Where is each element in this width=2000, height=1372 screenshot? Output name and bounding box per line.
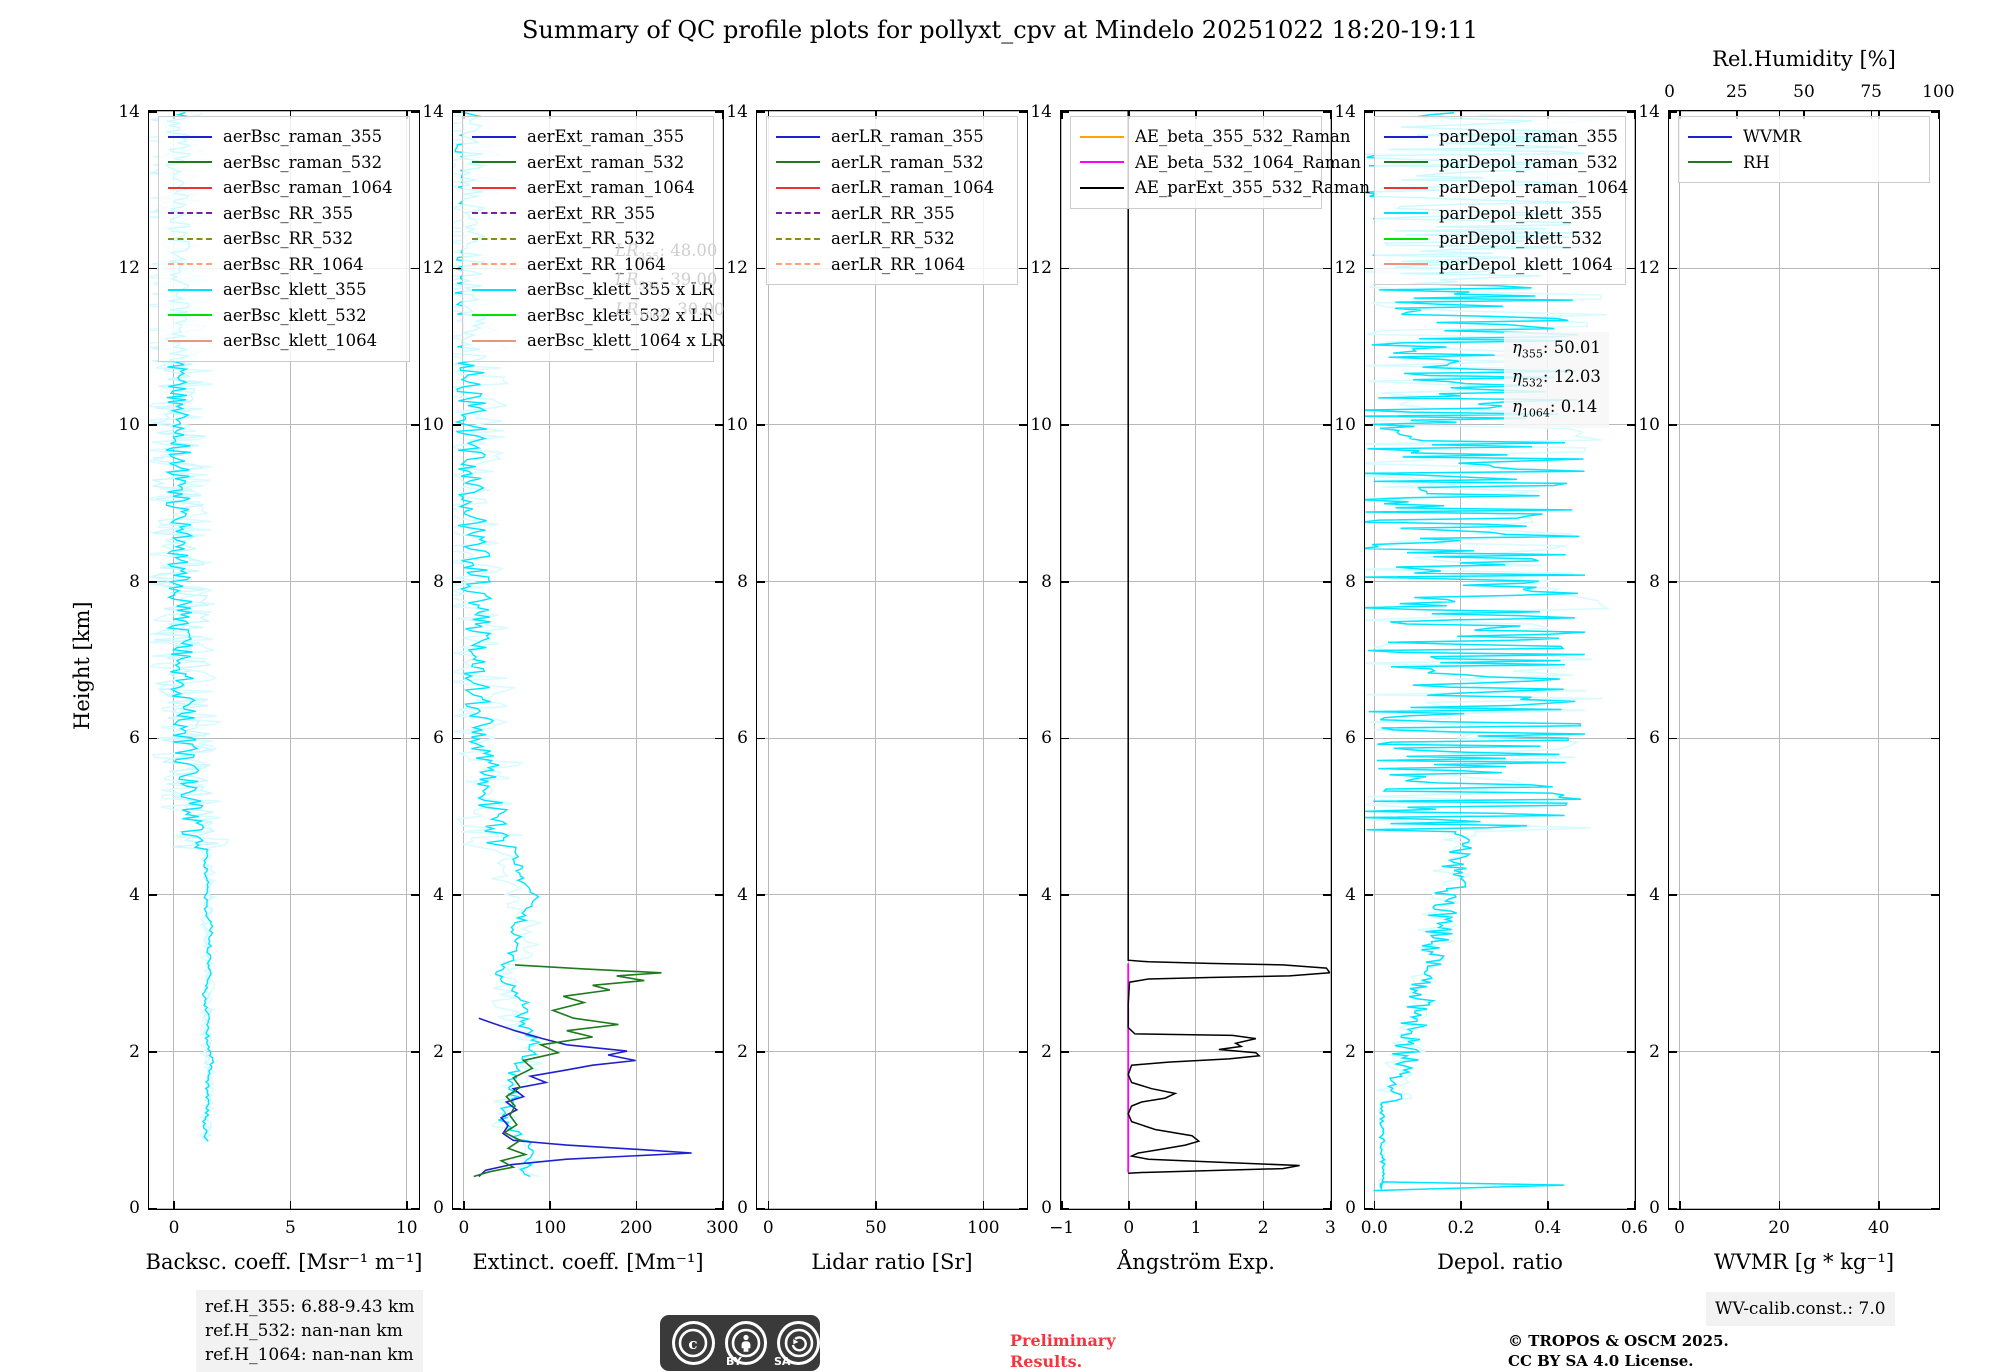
- legend-label: aerExt_raman_532: [527, 150, 684, 176]
- top-x-tick-label: 25: [1726, 82, 1748, 102]
- legend-label: parDepol_klett_355: [1439, 201, 1602, 227]
- legend-color-swatch: [1384, 136, 1428, 138]
- x-tick-label: 0.2: [1447, 1218, 1474, 1238]
- plot-area-wvmr: [1669, 111, 1938, 1208]
- eta-annotation-row: η532: 12.03: [1512, 365, 1601, 394]
- y-tick-label: 4: [716, 885, 748, 905]
- legend-entry[interactable]: aerBsc_raman_355: [168, 124, 400, 150]
- x-tick-label: 100: [967, 1218, 999, 1238]
- y-tick-mark: [1931, 1051, 1939, 1053]
- x-tick-label: 100: [534, 1218, 566, 1238]
- legend-label: aerBsc_klett_355: [223, 277, 367, 303]
- x-tick-mark: [173, 1201, 175, 1209]
- legend-color-swatch: [776, 187, 820, 189]
- ref-height-line: ref.H_1064: nan-nan km: [205, 1343, 414, 1367]
- top-x-tick-label: 0: [1664, 82, 1675, 102]
- y-tick-mark: [1365, 424, 1373, 426]
- legend-color-swatch: [472, 161, 516, 163]
- x-tick-label: 300: [706, 1218, 738, 1238]
- legend-entry[interactable]: aerBsc_klett_532: [168, 303, 400, 329]
- y-tick-label: 0: [1324, 1198, 1356, 1218]
- y-tick-mark: [1669, 1051, 1677, 1053]
- y-tick-mark: [453, 111, 461, 113]
- y-axis-label: Height [km]: [70, 601, 94, 730]
- x-tick-label: 10: [396, 1218, 418, 1238]
- x-tick-mark: [549, 1201, 551, 1209]
- legend-lidar-ratio: aerLR_raman_355aerLR_raman_532aerLR_rama…: [766, 116, 1018, 285]
- x-tick-mark: [875, 1201, 877, 1209]
- legend-depolarization: parDepol_raman_355parDepol_raman_532parD…: [1374, 116, 1626, 285]
- legend-color-swatch: [472, 212, 516, 214]
- y-tick-mark: [1931, 268, 1939, 270]
- legend-label: aerLR_raman_1064: [831, 175, 994, 201]
- y-tick-label: 0: [1020, 1198, 1052, 1218]
- legend-entry[interactable]: parDepol_klett_1064: [1384, 252, 1616, 278]
- x-tick-mark: [1679, 1201, 1681, 1209]
- data-series-line: [479, 1018, 692, 1176]
- y-tick-label: 4: [1324, 885, 1356, 905]
- legend-color-swatch: [776, 263, 820, 265]
- legend-label: parDepol_klett_532: [1439, 226, 1602, 252]
- legend-color-swatch: [776, 136, 820, 138]
- x-tick-mark: [1263, 1201, 1265, 1209]
- panel-wvmr: [1668, 110, 1940, 1210]
- legend-angstrom: AE_beta_355_532_RamanAE_beta_532_1064_Ra…: [1070, 116, 1322, 209]
- legend-label: aerLR_raman_355: [831, 124, 984, 150]
- legend-color-swatch: [168, 161, 212, 163]
- legend-label: aerLR_RR_1064: [831, 252, 965, 278]
- x-tick-label: 0: [459, 1218, 470, 1238]
- legend-entry[interactable]: aerLR_raman_532: [776, 150, 1008, 176]
- y-tick-mark: [757, 111, 765, 113]
- y-tick-mark: [1931, 581, 1939, 583]
- ref-height-line: ref.H_532: nan-nan km: [205, 1319, 414, 1343]
- y-tick-label: 14: [1628, 102, 1660, 122]
- x-axis-label-depolarization: Depol. ratio: [1437, 1250, 1563, 1274]
- y-tick-label: 0: [412, 1198, 444, 1218]
- figure-canvas: Summary of QC profile plots for pollyxt_…: [0, 0, 2000, 1360]
- legend-entry[interactable]: parDepol_klett_532: [1384, 226, 1616, 252]
- lr-annotation-row: LR532: 39.00: [615, 268, 724, 297]
- legend-color-swatch: [472, 187, 516, 189]
- x-tick-mark: [983, 1201, 985, 1209]
- legend-entry[interactable]: parDepol_raman_532: [1384, 150, 1616, 176]
- legend-color-swatch: [168, 314, 212, 316]
- y-tick-mark: [149, 1051, 157, 1053]
- x-tick-mark: [1128, 1201, 1130, 1209]
- top-x-tick-mark: [1938, 111, 1940, 119]
- y-tick-label: 2: [412, 1042, 444, 1062]
- lidar-ratio-annotation: LR355: 48.00LR532: 39.00LR1064: 30.00: [607, 235, 732, 331]
- y-tick-mark: [453, 424, 461, 426]
- figure-title: Summary of QC profile plots for pollyxt_…: [0, 16, 2000, 44]
- cc-icon: c: [672, 1321, 715, 1365]
- legend-color-swatch: [472, 289, 516, 291]
- y-tick-mark: [757, 1208, 765, 1210]
- y-tick-mark: [1365, 738, 1373, 740]
- legend-color-swatch: [1384, 212, 1428, 214]
- x-axis-label-lidar-ratio: Lidar ratio [Sr]: [811, 1250, 972, 1274]
- lr-annotation-row: LR1064: 30.00: [615, 298, 724, 327]
- legend-entry[interactable]: AE_beta_532_1064_Raman: [1080, 150, 1312, 176]
- legend-label: aerBsc_klett_532: [223, 303, 367, 329]
- x-tick-mark: [406, 1201, 408, 1209]
- legend-color-swatch: [1384, 263, 1428, 265]
- x-tick-mark: [1547, 1201, 1549, 1209]
- y-tick-mark: [1669, 581, 1677, 583]
- y-tick-mark: [453, 581, 461, 583]
- legend-color-swatch: [1080, 136, 1124, 138]
- legend-color-swatch: [472, 263, 516, 265]
- legend-color-swatch: [168, 212, 212, 214]
- y-tick-label: 4: [1020, 885, 1052, 905]
- y-tick-label: 4: [1628, 885, 1660, 905]
- legend-label: parDepol_raman_1064: [1439, 175, 1628, 201]
- y-tick-label: 6: [108, 728, 140, 748]
- y-tick-mark: [1061, 738, 1069, 740]
- preliminary-results-watermark: PreliminaryResults.: [1010, 1330, 1116, 1372]
- legend-label: AE_beta_355_532_Raman: [1135, 124, 1351, 150]
- y-tick-mark: [453, 894, 461, 896]
- x-axis-label-wvmr: WVMR [g * kg⁻¹]: [1714, 1250, 1894, 1274]
- legend-color-swatch: [168, 340, 212, 342]
- y-tick-label: 12: [1020, 258, 1052, 278]
- y-tick-mark: [1365, 894, 1373, 896]
- x-tick-mark: [1195, 1201, 1197, 1209]
- y-tick-label: 12: [1628, 258, 1660, 278]
- y-tick-mark: [1931, 1208, 1939, 1210]
- y-tick-mark: [453, 738, 461, 740]
- legend-color-swatch: [1384, 161, 1428, 163]
- x-tick-mark: [290, 1201, 292, 1209]
- y-tick-mark: [149, 424, 157, 426]
- legend-entry[interactable]: aerLR_raman_1064: [776, 175, 1008, 201]
- y-tick-label: 14: [412, 102, 444, 122]
- y-tick-mark: [1061, 1208, 1069, 1210]
- x-axis-label-extinction: Extinct. coeff. [Mm⁻¹]: [472, 1250, 703, 1274]
- legend-entry[interactable]: aerBsc_klett_1064: [168, 328, 400, 354]
- legend-entry[interactable]: aerBsc_klett_1064 x LR: [472, 328, 704, 354]
- legend-label: AE_beta_532_1064_Raman: [1135, 150, 1361, 176]
- y-tick-mark: [149, 738, 157, 740]
- y-tick-label: 4: [412, 885, 444, 905]
- y-tick-label: 8: [1020, 572, 1052, 592]
- y-tick-label: 10: [1324, 415, 1356, 435]
- ref-height-line: ref.H_355: 6.88-9.43 km: [205, 1295, 414, 1319]
- y-tick-mark: [1365, 111, 1373, 113]
- plot-area-angstrom: [1061, 111, 1330, 1208]
- legend-color-swatch: [168, 263, 212, 265]
- y-tick-label: 12: [412, 258, 444, 278]
- y-tick-label: 6: [1628, 728, 1660, 748]
- legend-entry[interactable]: aerBsc_raman_1064: [168, 175, 400, 201]
- x-tick-mark: [1460, 1201, 1462, 1209]
- x-axis-label-backscatter: Backsc. coeff. [Msr⁻¹ m⁻¹]: [146, 1250, 423, 1274]
- x-tick-label: 1: [1191, 1218, 1202, 1238]
- eta-annotation-row: η355: 50.01: [1512, 336, 1601, 365]
- legend-entry[interactable]: aerLR_RR_355: [776, 201, 1008, 227]
- legend-label: aerBsc_raman_355: [223, 124, 382, 150]
- legend-color-swatch: [168, 238, 212, 240]
- legend-entry[interactable]: aerBsc_klett_355: [168, 277, 400, 303]
- legend-entry[interactable]: aerBsc_RR_355: [168, 201, 400, 227]
- legend-entry[interactable]: aerLR_RR_532: [776, 226, 1008, 252]
- gridline-horizontal: [757, 1208, 1027, 1209]
- x-tick-mark: [1878, 1201, 1880, 1209]
- data-series-line: [1128, 111, 1330, 1173]
- credit-line: CC BY SA 4.0 License.: [1508, 1351, 1729, 1371]
- y-tick-mark: [1365, 268, 1373, 270]
- y-tick-label: 10: [1628, 415, 1660, 435]
- legend-color-swatch: [168, 187, 212, 189]
- y-tick-label: 6: [716, 728, 748, 748]
- y-tick-label: 6: [1324, 728, 1356, 748]
- legend-color-swatch: [472, 314, 516, 316]
- legend-color-swatch: [472, 238, 516, 240]
- legend-entry[interactable]: AE_beta_355_532_Raman: [1080, 124, 1312, 150]
- x-tick-label: 0: [763, 1218, 774, 1238]
- legend-label: aerExt_RR_355: [527, 201, 655, 227]
- y-tick-mark: [149, 111, 157, 113]
- legend-entry[interactable]: parDepol_raman_355: [1384, 124, 1616, 150]
- legend-color-swatch: [1384, 238, 1428, 240]
- x-tick-mark: [463, 1201, 465, 1209]
- x-tick-label: −1: [1049, 1218, 1074, 1238]
- legend-label: AE_parExt_355_532_Raman: [1135, 175, 1370, 201]
- y-tick-mark: [149, 268, 157, 270]
- legend-label: RH: [1743, 150, 1770, 176]
- y-tick-mark: [1669, 894, 1677, 896]
- legend-entry[interactable]: aerBsc_RR_532: [168, 226, 400, 252]
- y-tick-mark: [1061, 268, 1069, 270]
- legend-color-swatch: [472, 136, 516, 138]
- legend-label: parDepol_raman_532: [1439, 150, 1618, 176]
- y-tick-label: 14: [1324, 102, 1356, 122]
- y-tick-mark: [1669, 268, 1677, 270]
- legend-color-swatch: [472, 340, 516, 342]
- x-tick-label: 40: [1868, 1218, 1890, 1238]
- legend-label: parDepol_raman_355: [1439, 124, 1618, 150]
- legend-entry[interactable]: parDepol_klett_355: [1384, 201, 1616, 227]
- y-tick-label: 0: [716, 1198, 748, 1218]
- top-x-tick-label: 100: [1922, 82, 1954, 102]
- y-tick-label: 8: [1324, 572, 1356, 592]
- x-tick-label: 0.4: [1534, 1218, 1561, 1238]
- y-tick-mark: [1365, 581, 1373, 583]
- y-tick-label: 10: [108, 415, 140, 435]
- y-tick-mark: [1061, 424, 1069, 426]
- y-tick-mark: [1061, 894, 1069, 896]
- legend-color-swatch: [168, 136, 212, 138]
- x-tick-label: 0.6: [1621, 1218, 1648, 1238]
- top-axis-label: Rel.Humidity [%]: [1712, 47, 1896, 71]
- y-tick-mark: [1365, 1051, 1373, 1053]
- y-tick-mark: [757, 581, 765, 583]
- y-tick-mark: [149, 894, 157, 896]
- y-tick-mark: [757, 268, 765, 270]
- cc-sa-text: SA: [774, 1355, 790, 1368]
- y-tick-mark: [1365, 1208, 1373, 1210]
- gridline-horizontal: [1365, 1208, 1635, 1209]
- legend-label: aerLR_raman_532: [831, 150, 984, 176]
- y-tick-label: 12: [108, 258, 140, 278]
- legend-label: aerBsc_raman_1064: [223, 175, 393, 201]
- copyright-credits: © TROPOS & OSCM 2025.CC BY SA 4.0 Licens…: [1508, 1331, 1729, 1371]
- legend-entry[interactable]: AE_parExt_355_532_Raman: [1080, 175, 1312, 201]
- x-tick-label: 50: [865, 1218, 887, 1238]
- legend-entry[interactable]: aerLR_RR_1064: [776, 252, 1008, 278]
- legend-color-swatch: [776, 161, 820, 163]
- x-axis-label-angstrom: Ångström Exp.: [1117, 1250, 1275, 1274]
- y-tick-label: 2: [1628, 1042, 1660, 1062]
- legend-color-swatch: [776, 212, 820, 214]
- y-tick-mark: [1931, 894, 1939, 896]
- legend-color-swatch: [1688, 161, 1732, 163]
- legend-color-swatch: [776, 238, 820, 240]
- legend-label: aerBsc_RR_532: [223, 226, 353, 252]
- y-tick-mark: [453, 268, 461, 270]
- y-tick-label: 8: [1628, 572, 1660, 592]
- cc-by-text: BY: [726, 1355, 742, 1368]
- legend-entry[interactable]: aerLR_raman_355: [776, 124, 1008, 150]
- legend-label: aerExt_raman_355: [527, 124, 684, 150]
- x-tick-label: 20: [1768, 1218, 1790, 1238]
- svg-text:c: c: [689, 1335, 698, 1353]
- legend-entry[interactable]: WVMR: [1688, 124, 1920, 150]
- legend-label: WVMR: [1743, 124, 1801, 150]
- y-tick-label: 14: [716, 102, 748, 122]
- legend-color-swatch: [1080, 161, 1124, 163]
- y-tick-mark: [149, 1208, 157, 1210]
- y-tick-mark: [757, 424, 765, 426]
- top-x-tick-label: 50: [1793, 82, 1815, 102]
- y-tick-label: 2: [108, 1042, 140, 1062]
- x-tick-mark: [1374, 1201, 1376, 1209]
- lr-annotation-row: LR355: 48.00: [615, 239, 724, 268]
- y-tick-mark: [1931, 424, 1939, 426]
- legend-label: aerExt_raman_1064: [527, 175, 695, 201]
- y-tick-mark: [149, 581, 157, 583]
- panel-angstrom: [1060, 110, 1332, 1210]
- x-tick-label: 0: [169, 1218, 180, 1238]
- legend-entry[interactable]: parDepol_raman_1064: [1384, 175, 1616, 201]
- eta-annotation-row: η1064: 0.14: [1512, 395, 1601, 424]
- y-tick-label: 4: [108, 885, 140, 905]
- y-tick-mark: [1669, 738, 1677, 740]
- legend-entry[interactable]: aerExt_RR_355: [472, 201, 704, 227]
- legend-label: aerLR_RR_355: [831, 201, 955, 227]
- y-tick-label: 10: [1020, 415, 1052, 435]
- top-x-tick-label: 75: [1860, 82, 1882, 102]
- legend-entry[interactable]: RH: [1688, 150, 1920, 176]
- y-tick-label: 10: [716, 415, 748, 435]
- y-tick-mark: [1061, 581, 1069, 583]
- y-tick-label: 0: [1628, 1198, 1660, 1218]
- legend-label: aerLR_RR_532: [831, 226, 955, 252]
- y-tick-mark: [1061, 111, 1069, 113]
- legend-label: aerBsc_klett_1064 x LR: [527, 328, 724, 354]
- y-tick-mark: [757, 738, 765, 740]
- legend-color-swatch: [1080, 187, 1124, 189]
- y-tick-label: 10: [412, 415, 444, 435]
- legend-color-swatch: [168, 289, 212, 291]
- y-tick-label: 2: [716, 1042, 748, 1062]
- legend-entry[interactable]: aerExt_raman_532: [472, 150, 704, 176]
- x-tick-label: 0: [1123, 1218, 1134, 1238]
- legend-backscatter: aerBsc_raman_355aerBsc_raman_532aerBsc_r…: [158, 116, 410, 362]
- y-tick-label: 6: [412, 728, 444, 748]
- y-tick-mark: [1669, 1208, 1677, 1210]
- top-x-tick-mark: [1669, 111, 1671, 119]
- y-tick-mark: [453, 1051, 461, 1053]
- legend-label: aerBsc_raman_532: [223, 150, 382, 176]
- legend-entry[interactable]: aerExt_raman_355: [472, 124, 704, 150]
- y-tick-mark: [757, 1051, 765, 1053]
- x-tick-label: 200: [620, 1218, 652, 1238]
- legend-entry[interactable]: aerExt_raman_1064: [472, 175, 704, 201]
- legend-entry[interactable]: aerBsc_raman_532: [168, 150, 400, 176]
- gridline-horizontal: [453, 1208, 723, 1209]
- y-tick-label: 6: [1020, 728, 1052, 748]
- legend-entry[interactable]: aerBsc_RR_1064: [168, 252, 400, 278]
- legend-label: parDepol_klett_1064: [1439, 252, 1613, 278]
- legend-color-swatch: [1384, 187, 1428, 189]
- y-tick-mark: [1931, 738, 1939, 740]
- x-tick-label: 0: [1674, 1218, 1685, 1238]
- y-tick-label: 8: [412, 572, 444, 592]
- x-tick-label: 0.0: [1361, 1218, 1388, 1238]
- x-tick-label: 3: [1325, 1218, 1336, 1238]
- x-tick-label: 2: [1258, 1218, 1269, 1238]
- legend-color-swatch: [1688, 136, 1732, 138]
- eta-annotation: η355: 50.01η532: 12.03η1064: 0.14: [1504, 332, 1609, 428]
- x-tick-label: 5: [285, 1218, 296, 1238]
- gridline-horizontal: [1669, 1208, 1939, 1209]
- y-tick-mark: [453, 1208, 461, 1210]
- y-tick-mark: [1669, 424, 1677, 426]
- wv-calib-note: WV-calib.const.: 7.0: [1706, 1292, 1895, 1326]
- legend-label: aerBsc_RR_1064: [223, 252, 364, 278]
- y-tick-label: 8: [716, 572, 748, 592]
- x-tick-mark: [768, 1201, 770, 1209]
- gridline-horizontal: [149, 1208, 419, 1209]
- y-tick-label: 14: [1020, 102, 1052, 122]
- legend-label: aerBsc_RR_355: [223, 201, 353, 227]
- y-tick-label: 2: [1324, 1042, 1356, 1062]
- legend-wvmr: WVMRRH: [1678, 116, 1930, 183]
- creative-commons-logo: c BY SA: [660, 1315, 820, 1371]
- x-tick-mark: [636, 1201, 638, 1209]
- y-tick-label: 0: [108, 1198, 140, 1218]
- legend-label: aerBsc_klett_1064: [223, 328, 377, 354]
- y-tick-mark: [1061, 1051, 1069, 1053]
- preliminary-line: Results.: [1010, 1351, 1116, 1372]
- y-tick-mark: [757, 894, 765, 896]
- credit-line: © TROPOS & OSCM 2025.: [1508, 1331, 1729, 1351]
- y-tick-label: 8: [108, 572, 140, 592]
- y-tick-label: 12: [1324, 258, 1356, 278]
- preliminary-line: Preliminary: [1010, 1330, 1116, 1351]
- y-tick-label: 2: [1020, 1042, 1052, 1062]
- x-tick-mark: [1779, 1201, 1781, 1209]
- y-tick-label: 14: [108, 102, 140, 122]
